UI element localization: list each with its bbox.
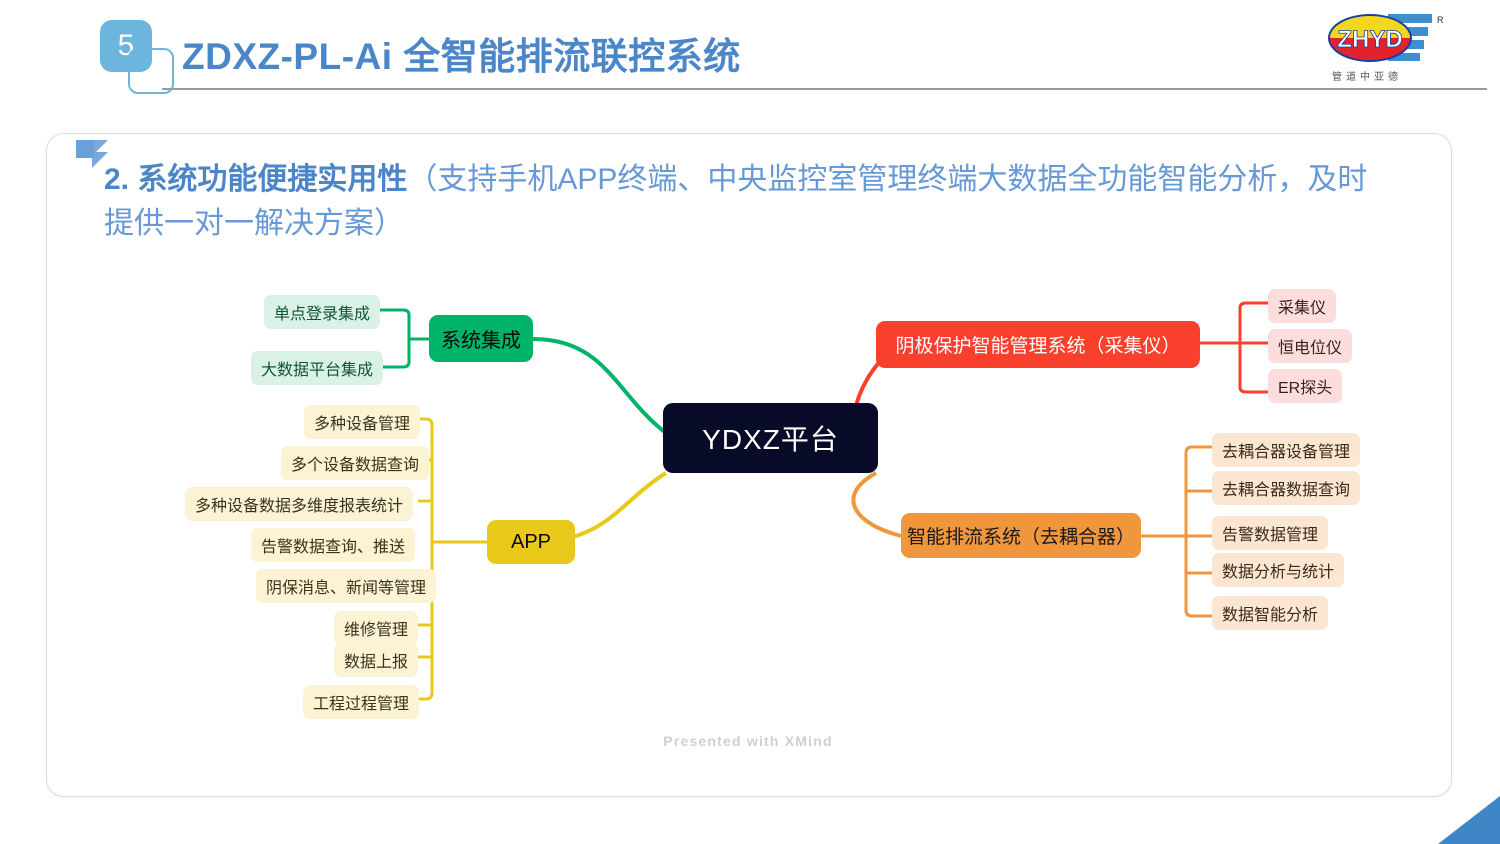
mindmap-branch-cathodic-protection[interactable]: 阴极保护智能管理系统（采集仪） xyxy=(876,321,1200,368)
mindmap-branch-smart-drainage[interactable]: 智能排流系统（去耦合器） xyxy=(901,513,1141,558)
zhyd-logo-icon: ZHYD xyxy=(1326,10,1446,66)
mindmap-leaf-decoupler-device-management[interactable]: 去耦合器设备管理 xyxy=(1212,433,1360,467)
mindmap-leaf-er-probe[interactable]: ER探头 xyxy=(1268,369,1342,403)
mindmap-leaf-data-intelligent-analysis[interactable]: 数据智能分析 xyxy=(1212,596,1328,630)
mindmap-leaf-bigdata-platform-integration[interactable]: 大数据平台集成 xyxy=(251,351,383,385)
connector-center-to-drainage xyxy=(853,473,901,536)
mindmap-central-node[interactable]: YDXZ平台 xyxy=(663,403,878,473)
mindmap-branch-app[interactable]: APP xyxy=(487,520,575,564)
registered-trademark-icon: R xyxy=(1437,15,1444,25)
mindmap-leaf-maintenance-management[interactable]: 维修管理 xyxy=(334,611,418,645)
mindmap-leaf-decoupler-data-query[interactable]: 去耦合器数据查询 xyxy=(1212,471,1360,505)
corner-triangle-decoration xyxy=(1438,796,1500,844)
logo-subtitle: 管道中亚德 xyxy=(1332,68,1402,83)
mindmap: YDXZ平台 系统集成 单点登录集成 大数据平台集成 APP 多种设备管理 多个… xyxy=(46,255,1450,785)
mindmap-leaf-sso-integration[interactable]: 单点登录集成 xyxy=(264,295,380,329)
svg-text:ZHYD: ZHYD xyxy=(1337,26,1402,53)
mindmap-leaf-potentiostat[interactable]: 恒电位仪 xyxy=(1268,329,1352,363)
mindmap-leaf-alarm-data-management[interactable]: 告警数据管理 xyxy=(1212,516,1328,550)
header-divider xyxy=(162,88,1487,90)
mindmap-leaf-alarm-data-query-push[interactable]: 告警数据查询、推送 xyxy=(251,528,415,562)
mindmap-leaf-multi-device-management[interactable]: 多种设备管理 xyxy=(304,405,420,439)
company-logo: ZHYD R 管道中亚德 xyxy=(1326,10,1476,86)
section-number-title: 2. 系统功能便捷实用性 xyxy=(104,163,407,196)
section-heading: 2. 系统功能便捷实用性（支持手机APP终端、中央监控室管理终端大数据全功能智能… xyxy=(104,158,1394,246)
mindmap-leaf-multi-device-data-query[interactable]: 多个设备数据查询 xyxy=(281,446,429,480)
mindmap-leaf-data-analysis-statistics[interactable]: 数据分析与统计 xyxy=(1212,553,1344,587)
mindmap-leaf-data-reporting[interactable]: 数据上报 xyxy=(334,643,418,677)
mindmap-leaf-cathodic-news-management[interactable]: 阴保消息、新闻等管理 xyxy=(256,569,436,603)
mindmap-leaf-multidimensional-report-statistics[interactable]: 多种设备数据多维度报表统计 xyxy=(185,487,413,521)
mindmap-branch-system-integration[interactable]: 系统集成 xyxy=(429,315,533,362)
connector-center-to-system-integration xyxy=(533,339,666,433)
mindmap-leaf-collector[interactable]: 采集仪 xyxy=(1268,289,1336,323)
page-title: ZDXZ-PL-Ai 全智能排流联控系统 xyxy=(182,26,741,80)
xmind-watermark: Presented with XMind xyxy=(46,733,1450,749)
slide-canvas: 5 ZDXZ-PL-Ai 全智能排流联控系统 ZHYD R 管道中亚德 2. 系… xyxy=(0,0,1500,844)
mindmap-leaf-project-process-management[interactable]: 工程过程管理 xyxy=(303,685,419,719)
